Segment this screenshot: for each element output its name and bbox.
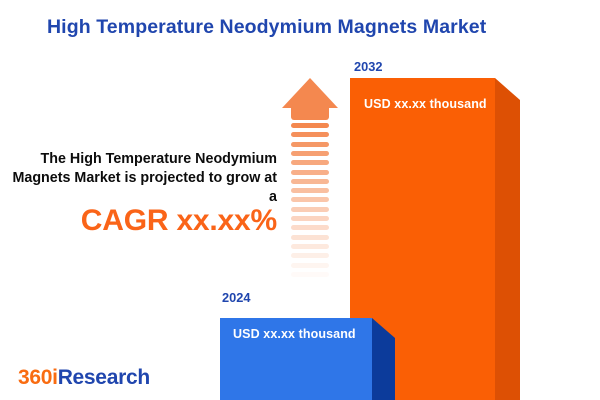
arrow-stripe — [291, 151, 329, 156]
bar-value-2024: USD xx.xx thousand — [233, 327, 356, 341]
brand-logo: 360iResearch — [18, 366, 150, 390]
arrow-shaft — [291, 123, 329, 290]
arrow-head — [282, 78, 338, 108]
cagr-value: CAGR xx.xx% — [10, 204, 277, 238]
arrow-stripe — [291, 272, 329, 277]
arrow-stripe — [291, 253, 329, 258]
year-label-2032: 2032 — [354, 59, 382, 74]
bar-value-2032: USD xx.xx thousand — [364, 97, 487, 111]
lead-paragraph: The High Temperature Neodymium Magnets M… — [10, 150, 277, 207]
market-infographic: High Temperature Neodymium Magnets Marke… — [0, 0, 600, 400]
arrow-stripe — [291, 142, 329, 147]
arrow-stripe — [291, 197, 329, 202]
bar-2032-side — [495, 78, 520, 400]
logo-text-research: Research — [58, 366, 150, 389]
arrow-neck — [291, 108, 329, 120]
arrow-stripe — [291, 123, 329, 128]
logo-text-360i: 360i — [18, 366, 58, 389]
arrow-stripe — [291, 216, 329, 221]
arrow-stripe — [291, 188, 329, 193]
arrow-stripe — [291, 132, 329, 137]
arrow-stripe — [291, 225, 329, 230]
arrow-stripe — [291, 170, 329, 175]
year-label-2024: 2024 — [222, 290, 250, 305]
arrow-stripe — [291, 179, 329, 184]
arrow-stripe — [291, 207, 329, 212]
arrow-stripe — [291, 263, 329, 268]
up-arrow-icon — [282, 78, 338, 290]
arrow-stripe — [291, 235, 329, 240]
arrow-stripe — [291, 160, 329, 165]
arrow-stripe — [291, 244, 329, 249]
page-title: High Temperature Neodymium Magnets Marke… — [47, 16, 567, 39]
